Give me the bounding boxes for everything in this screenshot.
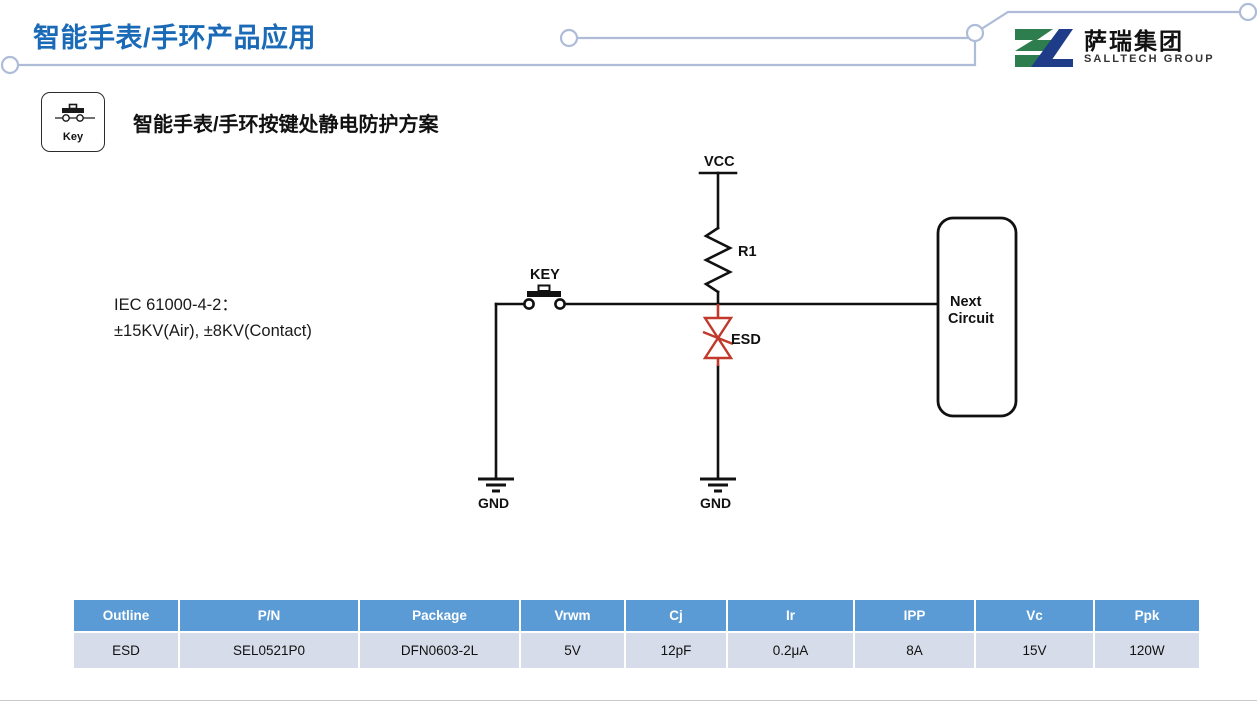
label-key: KEY bbox=[530, 267, 560, 283]
table-row: ESD SEL0521P0 DFN0603-2L 5V 12pF 0.2μA 8… bbox=[74, 633, 1199, 668]
table-cell: DFN0603-2L bbox=[360, 633, 519, 668]
esd-tvs-diode-symbol bbox=[703, 304, 733, 366]
table-cell: ESD bbox=[74, 633, 178, 668]
gnd-symbol-left bbox=[478, 479, 514, 491]
label-next-circuit-line2: Circuit bbox=[948, 311, 994, 327]
table-cell: 15V bbox=[976, 633, 1093, 668]
table-header-cell: P/N bbox=[180, 600, 358, 631]
table-header-cell: Vrwm bbox=[521, 600, 624, 631]
label-vcc: VCC bbox=[704, 154, 735, 170]
table-header-cell: Ppk bbox=[1095, 600, 1199, 631]
label-gnd-left: GND bbox=[478, 495, 509, 511]
table-cell: 0.2μA bbox=[728, 633, 853, 668]
key-switch-symbol bbox=[524, 286, 564, 309]
spec-table: Outline P/N Package Vrwm Cj Ir IPP Vc Pp… bbox=[72, 598, 1201, 670]
table-cell: 12pF bbox=[626, 633, 726, 668]
table-cell: 8A bbox=[855, 633, 974, 668]
table-header-cell: Package bbox=[360, 600, 519, 631]
footer-divider bbox=[0, 700, 1257, 701]
table-header-cell: Vc bbox=[976, 600, 1093, 631]
table-cell: 120W bbox=[1095, 633, 1199, 668]
table-cell: SEL0521P0 bbox=[180, 633, 358, 668]
label-next-circuit-line1: Next bbox=[950, 294, 982, 310]
table-header-cell: IPP bbox=[855, 600, 974, 631]
label-gnd-right: GND bbox=[700, 495, 731, 511]
table-cell: 5V bbox=[521, 633, 624, 668]
table-header-cell: Ir bbox=[728, 600, 853, 631]
label-r1: R1 bbox=[738, 244, 757, 260]
gnd-symbol-right bbox=[700, 479, 736, 491]
table-header-cell: Outline bbox=[74, 600, 178, 631]
label-esd: ESD bbox=[731, 332, 761, 348]
table-header-cell: Cj bbox=[626, 600, 726, 631]
table-header-row: Outline P/N Package Vrwm Cj Ir IPP Vc Pp… bbox=[74, 600, 1199, 631]
resistor-r1-symbol bbox=[706, 228, 730, 292]
